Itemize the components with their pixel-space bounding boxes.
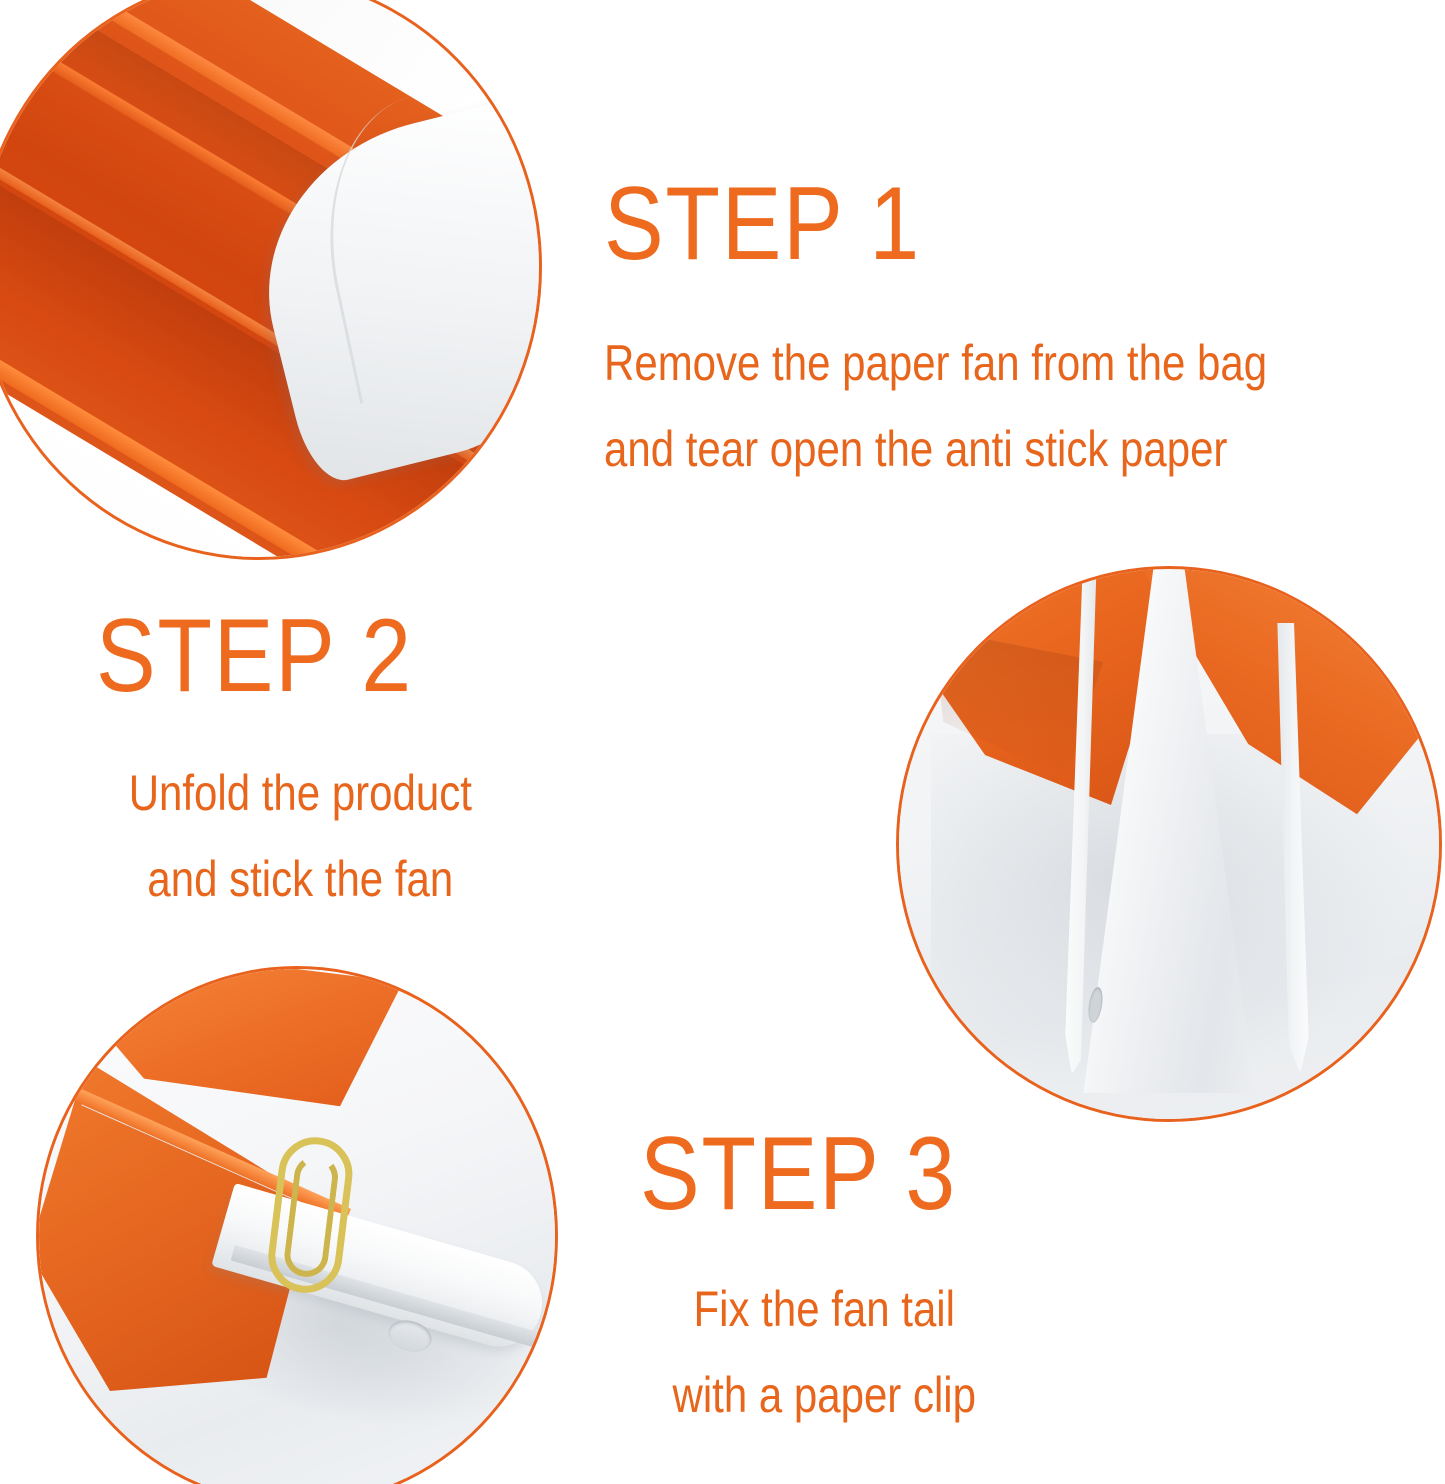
- step-3-line-1: Fix the fan tail: [669, 1284, 979, 1334]
- step-3-photo-circle: [36, 966, 558, 1484]
- step-3-line-2: with a paper clip: [669, 1370, 979, 1420]
- instruction-infographic: STEP 1 Remove the paper fan from the bag…: [0, 0, 1445, 1484]
- step-2-line-2: and stick the fan: [129, 854, 472, 904]
- step-1-line-1: Remove the paper fan from the bag: [604, 338, 1267, 388]
- step-1-photo-circle: [0, 0, 542, 560]
- step-1-photo-scene: [0, 0, 539, 557]
- step-1-title: STEP 1: [604, 172, 1283, 276]
- step-2-line-1: Unfold the product: [129, 768, 472, 818]
- step-2-title: STEP 2: [96, 604, 447, 708]
- step-1-text-block: STEP 1 Remove the paper fan from the bag…: [604, 172, 1393, 474]
- step-3-text-block: STEP 3 Fix the fan tail with a paper cli…: [640, 1122, 1008, 1420]
- step-1-description: Remove the paper fan from the bag and te…: [604, 338, 1393, 474]
- step-3-description: Fix the fan tail with a paper clip: [640, 1284, 1008, 1420]
- step-3-photo-scene: [39, 969, 555, 1484]
- step-2-photo-scene: [899, 569, 1439, 1119]
- step-3-title: STEP 3: [640, 1122, 957, 1226]
- step-2-description: Unfold the product and stick the fan: [96, 768, 505, 904]
- step-2-text-block: STEP 2 Unfold the product and stick the …: [96, 604, 505, 904]
- step-2-photo-circle: [896, 566, 1442, 1122]
- step-1-line-2: and tear open the anti stick paper: [604, 424, 1267, 474]
